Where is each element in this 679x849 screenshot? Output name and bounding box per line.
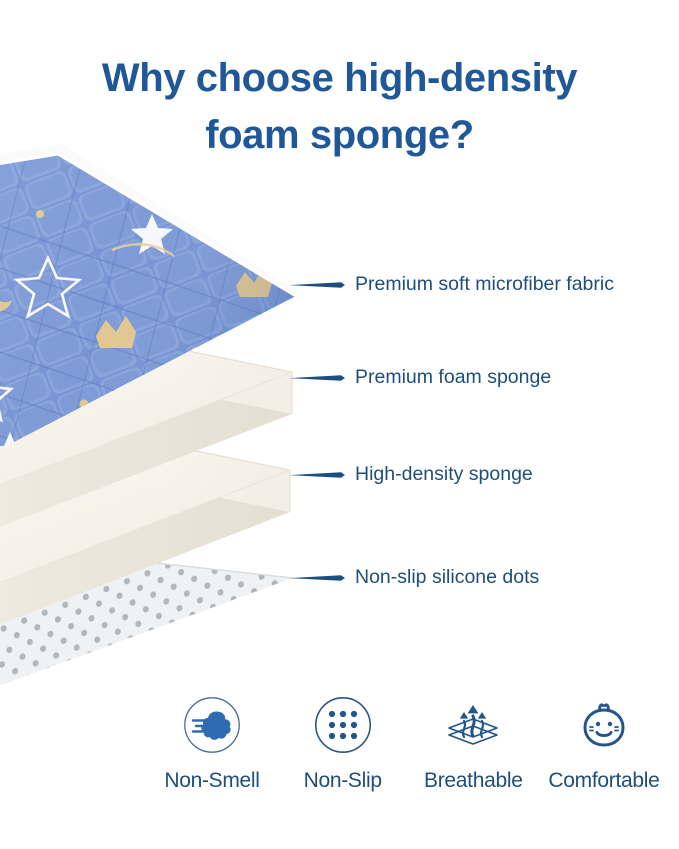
callout-label: High-density sponge: [355, 465, 533, 485]
callout-high-density-sponge: High-density sponge: [289, 462, 533, 488]
layer-non-slip-silicone: [0, 548, 293, 700]
callout-label: Premium soft microfiber fabric: [355, 275, 614, 295]
feature-strip: Non-Smell Non-Slip: [148, 694, 668, 791]
feature-label: Breathable: [424, 770, 523, 791]
page-title-line-2: foam sponge?: [0, 107, 679, 164]
feature-label: Comfortable: [548, 770, 659, 791]
leader-line-icon: [289, 281, 345, 289]
leader-line-icon: [289, 574, 345, 582]
page-title: Why choose high-density foam sponge?: [0, 50, 679, 164]
layer-microfiber-fabric: [0, 120, 310, 688]
feature-label: Non-Smell: [164, 770, 259, 791]
page-title-line-1: Why choose high-density: [0, 50, 679, 107]
layer-high-density-foam: [0, 416, 290, 648]
airflow-layers-icon: [442, 694, 504, 756]
feature-breathable: Breathable: [409, 694, 537, 791]
feature-non-smell: Non-Smell: [148, 694, 276, 791]
leader-line-icon: [289, 374, 345, 382]
dot-grid-icon: [312, 694, 374, 756]
leader-line-icon: [289, 471, 345, 479]
feature-label: Non-Slip: [304, 770, 382, 791]
layer-premium-foam: [0, 318, 292, 550]
callout-premium-soft-microfiber-fabric: Premium soft microfiber fabric: [289, 272, 614, 298]
callout-premium-foam-sponge: Premium foam sponge: [289, 365, 551, 391]
callout-label: Non-slip silicone dots: [355, 568, 539, 588]
baby-face-icon: [573, 694, 635, 756]
feature-non-slip: Non-Slip: [279, 694, 407, 791]
feature-comfortable: Comfortable: [540, 694, 668, 791]
callout-label: Premium foam sponge: [355, 368, 551, 388]
odor-waves-icon: [181, 694, 243, 756]
callout-non-slip-silicone-dots: Non-slip silicone dots: [289, 565, 539, 591]
